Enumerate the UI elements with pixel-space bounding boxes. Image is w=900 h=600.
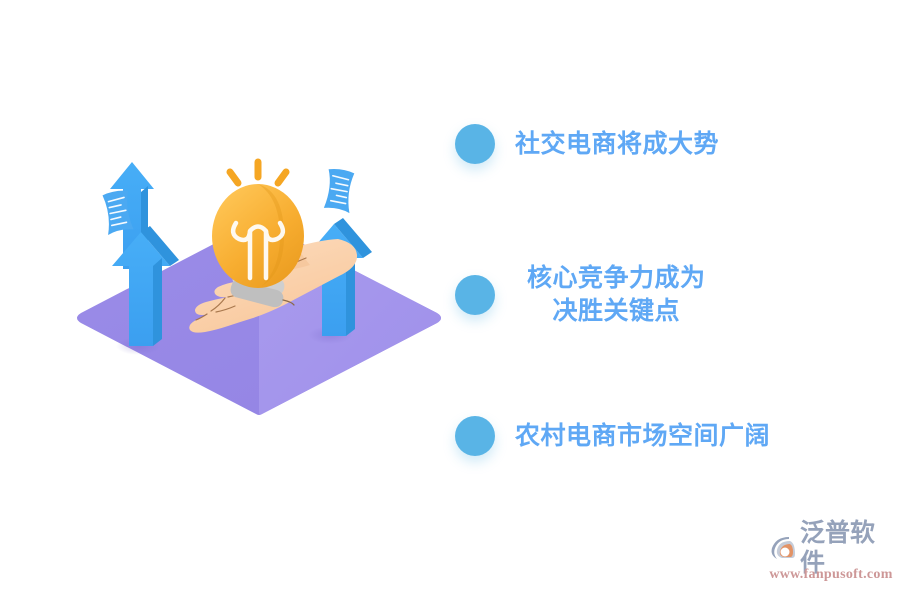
bullet-item-rural-commerce[interactable]: 农村电商市场空间广阔 [455,416,885,456]
spark-rays-icon [230,162,286,183]
bullet-list: 社交电商将成大势 核心竞争力成为 决胜关键点 农村电商市场空间广阔 [455,110,885,500]
watermark-brand-row: 泛普软件 [768,528,894,568]
bullet-dot-icon [455,275,495,315]
illustration-svg [70,150,450,430]
bullet-dot-icon [455,416,495,456]
infographic-canvas: 社交电商将成大势 核心竞争力成为 决胜关键点 农村电商市场空间广阔 泛普软件 w… [0,0,900,600]
paper-right-icon [324,168,355,213]
bullet-item-social-commerce[interactable]: 社交电商将成大势 [455,124,885,164]
bullet-dot-icon [455,124,495,164]
bullet-label: 社交电商将成大势 [515,128,719,161]
bullet-item-core-competitiveness[interactable]: 核心竞争力成为 决胜关键点 [455,262,885,328]
bullet-label: 农村电商市场空间广阔 [515,420,770,453]
illustration-hand-lightbulb [70,150,450,430]
watermark-logo: 泛普软件 www.fanpusoft.com [768,528,894,590]
bullet-label: 核心竞争力成为 决胜关键点 [527,262,706,328]
watermark-url: www.fanpusoft.com [768,567,894,583]
lightbulb-glass [212,184,304,288]
fanpu-logo-icon [768,533,798,563]
